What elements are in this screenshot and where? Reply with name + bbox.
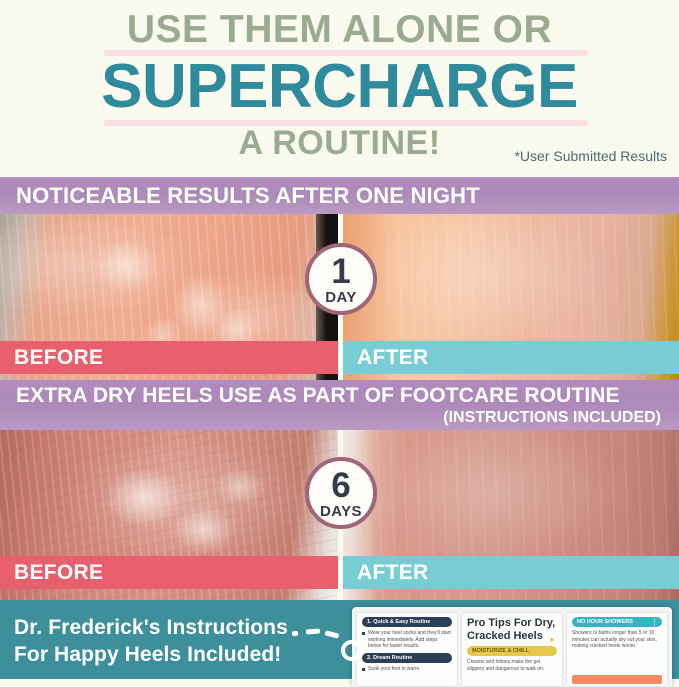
section-two-band-line-1: EXTRA DRY HEELS USE AS PART OF FOOTCARE …	[16, 384, 663, 408]
dream-routine-pill: 2. Dream Routine	[362, 653, 452, 663]
pro-tips-title: Pro Tips For Dry, Cracked Heels	[467, 617, 557, 642]
bullet-item: Soak your feet in warm	[362, 666, 452, 673]
pro-tips-body: Creams and lotions make the gel slippery…	[467, 659, 557, 672]
badge-number: 6	[331, 468, 350, 503]
no-hour-showers-tag: NO HOUR SHOWERS	[572, 617, 662, 627]
sparkle-icon: ✦	[548, 636, 556, 644]
instruction-panel-left: 1. Quick & Easy Routine Wear your heel s…	[356, 612, 458, 687]
instruction-panel-right: NO HOUR SHOWERS Showers or baths longer …	[566, 612, 668, 687]
day-count-badge-one: 1 DAY	[305, 243, 377, 315]
arrow-dash-icon	[292, 631, 298, 637]
header-line-2-supercharge: SUPERCHARGE	[0, 53, 679, 121]
moisturize-chill-tag: MOISTURIZE & CHILL	[467, 646, 557, 656]
bullet-dot-icon	[362, 668, 365, 671]
section-one-after-label: AFTER	[343, 341, 679, 374]
no-hour-showers-body: Showers or baths longer than 5 or 10 min…	[572, 630, 662, 650]
section-two-band-line-2: (INSTRUCTIONS INCLUDED)	[16, 408, 663, 427]
header-section: USE THEM ALONE OR SUPERCHARGE A ROUTINE!…	[0, 0, 679, 177]
footer-line-2: For Happy Heels Included!	[14, 641, 288, 668]
badge-unit: DAYS	[320, 504, 362, 519]
bullet-text: Wear your heel socks and they'll start w…	[368, 630, 452, 650]
header-line-1: USE THEM ALONE OR	[0, 8, 679, 52]
quick-easy-routine-pill: 1. Quick & Easy Routine	[362, 617, 452, 627]
instruction-panel-middle: Pro Tips For Dry, Cracked Heels MOISTURI…	[461, 612, 563, 687]
infographic-page: USE THEM ALONE OR SUPERCHARGE A ROUTINE!…	[0, 0, 679, 679]
day-count-badge-two: 6 DAYS	[305, 457, 377, 529]
arrow-dash-icon	[306, 629, 320, 635]
orange-callout-strip	[572, 675, 662, 684]
bullet-item: Wear your heel socks and they'll start w…	[362, 630, 452, 650]
footer-text: Dr. Frederick's Instructions For Happy H…	[14, 614, 288, 668]
footer-line-1: Dr. Frederick's Instructions	[14, 614, 288, 641]
user-submitted-results-note: *User Submitted Results	[514, 148, 667, 164]
badge-unit: DAY	[325, 290, 357, 305]
panel-divider-icon	[654, 618, 662, 627]
section-two-before-label: BEFORE	[0, 556, 338, 589]
bullet-dot-icon	[362, 632, 365, 635]
section-two-after-label: AFTER	[343, 556, 679, 589]
arrow-circle-icon	[341, 640, 362, 661]
section-one-band: NOTICEABLE RESULTS AFTER ONE NIGHT	[0, 177, 679, 214]
bullet-text: Soak your feet in warm	[368, 666, 419, 673]
badge-number: 1	[331, 254, 350, 289]
section-two-band: EXTRA DRY HEELS USE AS PART OF FOOTCARE …	[0, 380, 679, 430]
instruction-card: 1. Quick & Easy Routine Wear your heel s…	[352, 607, 672, 687]
section-one-before-label: BEFORE	[0, 341, 338, 374]
section-one-band-text: NOTICEABLE RESULTS AFTER ONE NIGHT	[16, 183, 480, 209]
